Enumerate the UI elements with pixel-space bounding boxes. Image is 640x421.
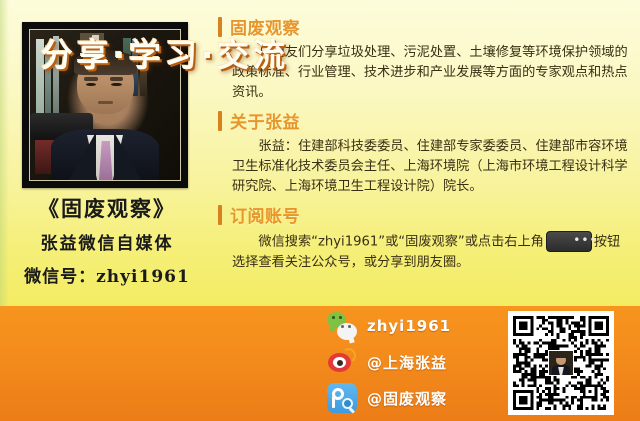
banner-slogan: 分享·学习·交流 [20, 30, 310, 76]
social-row-weibo[interactable]: @上海张益 [327, 344, 502, 380]
section-header: 关于张益 [218, 108, 632, 133]
social-label: @上海张益 [367, 352, 447, 373]
qr-code[interactable] [508, 311, 614, 415]
qr-center-avatar [548, 350, 574, 376]
caption-subtitle: 张益微信自媒体 [0, 229, 214, 254]
profile-caption: 《固废观察》 张益微信自媒体 微信号：zhyi1961 [0, 196, 214, 287]
social-list: zhyi1961 @上海张益 @固废观察 [327, 308, 502, 416]
social-row-blue[interactable]: @固废观察 [327, 380, 502, 416]
caption-wechat-id: 微信号：zhyi1961 [0, 262, 214, 287]
section-body: 张益：住建部科技委委员、住建部专家委委员、住建部市容环境卫生标准化技术委员会主任… [232, 137, 632, 197]
section-about-zhangyi: 关于张益 张益：住建部科技委委员、住建部专家委委员、住建部市容环境卫生标准化技术… [218, 108, 632, 197]
section-title: 关于张益 [230, 108, 300, 133]
social-label: zhyi1961 [367, 317, 451, 335]
section-subscribe: 订阅账号 微信搜索“zhyi1961”或“固废观察”或点击右上角•••按钮选择查… [218, 202, 632, 273]
wechat-icon [327, 311, 357, 341]
section-bar-icon [218, 205, 222, 225]
section-body: 微信搜索“zhyi1961”或“固废观察”或点击右上角•••按钮选择查看关注公众… [232, 231, 632, 273]
weibo-icon [327, 347, 357, 377]
caption-title: 《固废观察》 [0, 196, 214, 222]
social-label: @固废观察 [367, 388, 447, 409]
section-title: 订阅账号 [230, 202, 300, 227]
wechat-profile-card: 《固废观察》 张益微信自媒体 微信号：zhyi1961 固废观察 与朋友们分享垃… [0, 0, 640, 421]
blue-search-icon [327, 383, 357, 413]
section-header: 订阅账号 [218, 202, 632, 227]
social-row-wechat[interactable]: zhyi1961 [327, 308, 502, 344]
section-bar-icon [218, 111, 222, 131]
more-options-button[interactable]: ••• [546, 231, 592, 252]
subscribe-text-before: 微信搜索“zhyi1961”或“固废观察”或点击右上角 [258, 235, 543, 250]
qr-grid [513, 316, 609, 410]
